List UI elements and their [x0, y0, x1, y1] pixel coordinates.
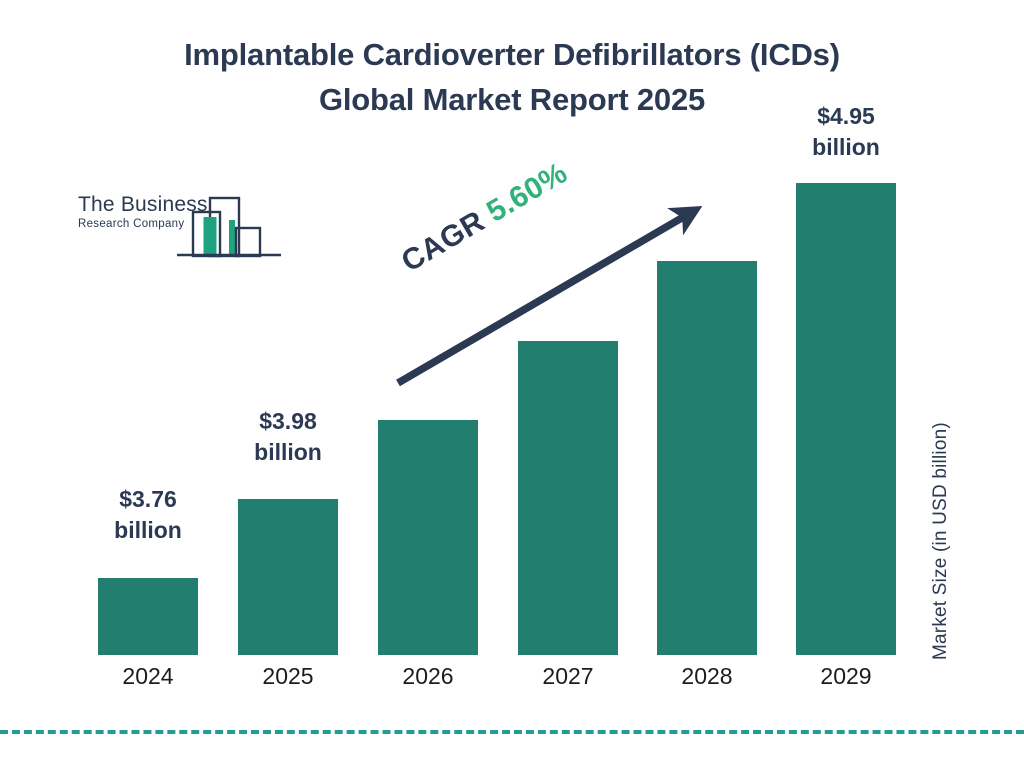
bar-value-2024: $3.76 billion: [78, 484, 218, 546]
x-tick-2027: 2027: [518, 663, 618, 690]
bar-2024: [98, 578, 198, 655]
footer-divider: [0, 730, 1024, 734]
cagr-label: CAGR: [396, 205, 490, 279]
cagr-value: 5.60%: [481, 156, 573, 228]
x-tick-2028: 2028: [657, 663, 757, 690]
x-tick-2024: 2024: [98, 663, 198, 690]
x-tick-2029: 2029: [796, 663, 896, 690]
x-tick-2025: 2025: [238, 663, 338, 690]
bar-chart-plot: $3.76 billion $3.98 billion $4.95 billio…: [0, 0, 1024, 768]
x-tick-2026: 2026: [378, 663, 478, 690]
cagr-annotation: CAGR 5.60%: [396, 156, 574, 279]
bar-2026: [378, 420, 478, 655]
y-axis-title: Market Size (in USD billion): [930, 300, 952, 660]
chart-page: Implantable Cardioverter Defibrillators …: [0, 0, 1024, 768]
bar-2029: [796, 183, 896, 655]
bar-value-2029: $4.95 billion: [776, 101, 916, 163]
bar-2025: [238, 499, 338, 655]
bar-2027: [518, 341, 618, 655]
bar-2028: [657, 261, 757, 655]
bar-value-2025: $3.98 billion: [218, 406, 358, 468]
